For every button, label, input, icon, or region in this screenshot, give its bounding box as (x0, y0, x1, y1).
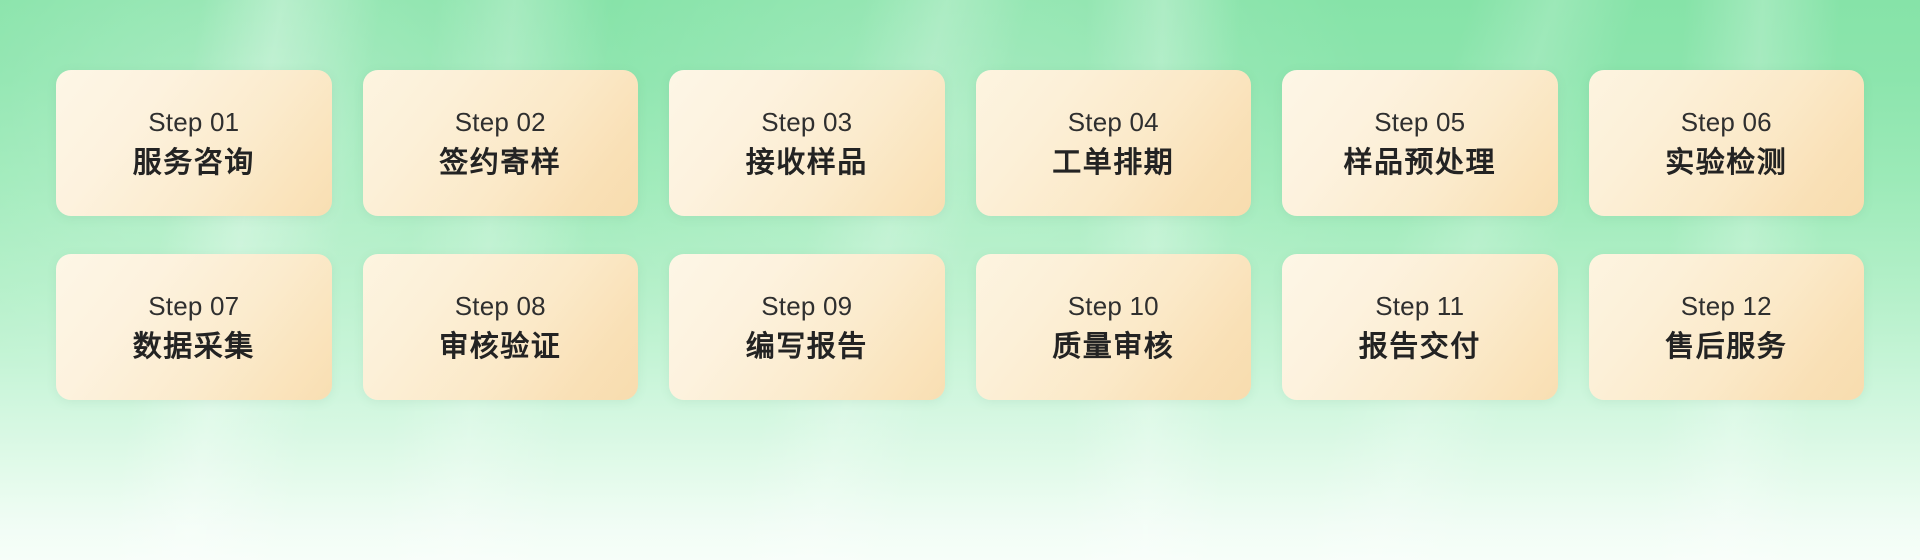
step-label: 工单排期 (1052, 149, 1174, 178)
step-card-8[interactable]: Step 08 审核验证 (363, 254, 639, 400)
step-label: 编写报告 (746, 333, 868, 362)
step-label: 数据采集 (133, 333, 255, 362)
step-card-5[interactable]: Step 05 样品预处理 (1282, 70, 1558, 216)
process-flow-banner: Step 01 服务咨询 Step 02 签约寄样 Step 03 接收样品 S… (0, 0, 1920, 560)
step-card-3[interactable]: Step 03 接收样品 (669, 70, 945, 216)
step-label: 实验检测 (1665, 149, 1787, 178)
step-card-9[interactable]: Step 09 编写报告 (669, 254, 945, 400)
step-card-grid: Step 01 服务咨询 Step 02 签约寄样 Step 03 接收样品 S… (0, 0, 1920, 560)
step-label: 样品预处理 (1343, 149, 1496, 178)
step-card-1[interactable]: Step 01 服务咨询 (56, 70, 332, 216)
step-number: Step 05 (1374, 109, 1465, 135)
step-label: 服务咨询 (133, 149, 255, 178)
step-card-6[interactable]: Step 06 实验检测 (1589, 70, 1865, 216)
step-card-7[interactable]: Step 07 数据采集 (56, 254, 332, 400)
step-card-2[interactable]: Step 02 签约寄样 (363, 70, 639, 216)
step-number: Step 02 (455, 109, 546, 135)
step-number: Step 04 (1068, 109, 1159, 135)
step-number: Step 12 (1681, 293, 1772, 319)
step-card-4[interactable]: Step 04 工单排期 (976, 70, 1252, 216)
step-label: 签约寄样 (439, 149, 561, 178)
step-card-11[interactable]: Step 11 报告交付 (1282, 254, 1558, 400)
step-number: Step 11 (1375, 293, 1464, 319)
step-card-12[interactable]: Step 12 售后服务 (1589, 254, 1865, 400)
step-number: Step 01 (148, 109, 239, 135)
step-number: Step 10 (1068, 293, 1159, 319)
step-card-10[interactable]: Step 10 质量审核 (976, 254, 1252, 400)
step-number: Step 08 (455, 293, 546, 319)
step-number: Step 03 (761, 109, 852, 135)
step-label: 审核验证 (439, 333, 561, 362)
step-number: Step 07 (148, 293, 239, 319)
step-number: Step 09 (761, 293, 852, 319)
step-label: 售后服务 (1665, 333, 1787, 362)
step-label: 接收样品 (746, 149, 868, 178)
step-label: 质量审核 (1052, 333, 1174, 362)
step-label: 报告交付 (1359, 333, 1481, 362)
step-number: Step 06 (1681, 109, 1772, 135)
